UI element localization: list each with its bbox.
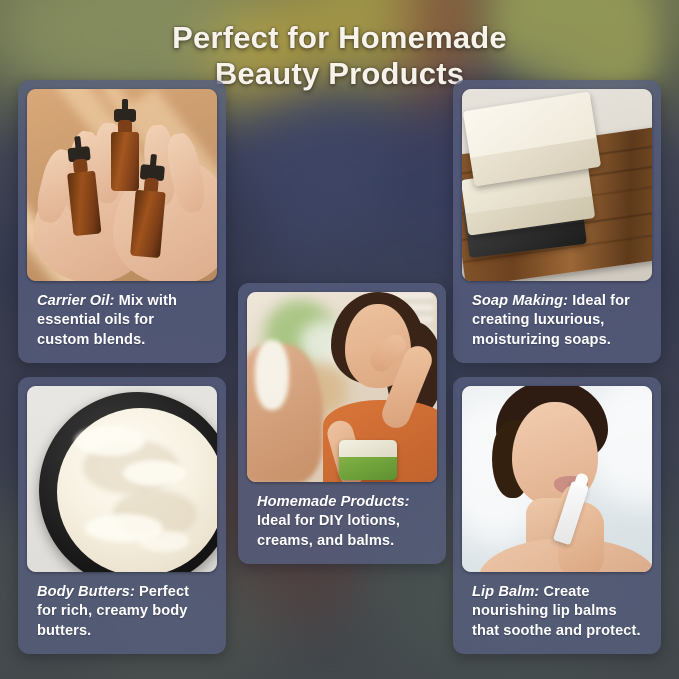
infographic-poster: Perfect for Homemade Beauty Products (0, 0, 679, 679)
homemade-products-text: Ideal for DIY lotions, creams, and balms… (257, 513, 400, 548)
dropper-bottle (111, 109, 139, 191)
card-carrier-oil[interactable]: Carrier Oil: Mix with essential oils for… (18, 80, 226, 363)
page-title-line-1: Perfect for Homemade (70, 20, 609, 56)
card-lip-balm[interactable]: Lip Balm: Create nourishing lip balms th… (453, 377, 661, 654)
lip-balm-caption: Lip Balm: Create nourishing lip balms th… (462, 572, 652, 654)
lip-balm-label: Lip Balm: (472, 584, 539, 600)
carrier-oil-label: Carrier Oil: (37, 293, 114, 309)
cream-jar (339, 440, 397, 480)
homemade-products-label: Homemade Products: (257, 494, 410, 510)
body-butters-label: Body Butters: (37, 584, 135, 600)
soap-making-caption: Soap Making: Ideal for creating luxuriou… (462, 281, 652, 363)
soap-making-photo (462, 89, 652, 281)
soap-making-label: Soap Making: (472, 293, 568, 309)
carrier-oil-caption: Carrier Oil: Mix with essential oils for… (27, 281, 217, 363)
lip-balm-photo (462, 386, 652, 572)
card-soap-making[interactable]: Soap Making: Ideal for creating luxuriou… (453, 80, 661, 363)
homemade-products-caption: Homemade Products: Ideal for DIY lotions… (247, 482, 437, 564)
body-butters-photo (27, 386, 217, 572)
card-body-butters[interactable]: Body Butters: Perfect for rich, creamy b… (18, 377, 226, 654)
carrier-oil-photo (27, 89, 217, 281)
card-homemade-products[interactable]: Homemade Products: Ideal for DIY lotions… (238, 283, 446, 564)
body-butters-caption: Body Butters: Perfect for rich, creamy b… (27, 572, 217, 654)
homemade-products-photo (247, 292, 437, 482)
